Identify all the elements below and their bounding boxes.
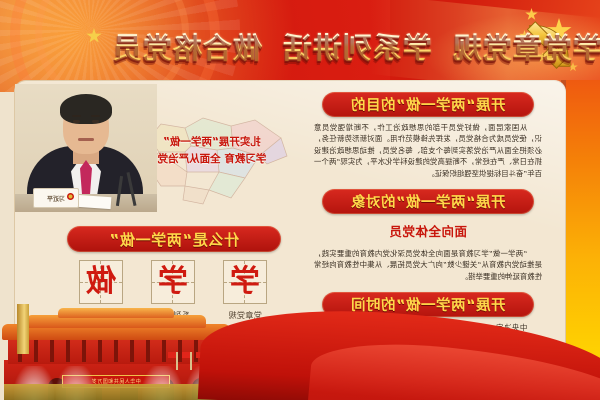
huabiao-column-icon [8, 304, 38, 354]
portrait-nameplate: 习近平 [33, 188, 79, 208]
portrait-eye-left [92, 120, 99, 123]
portrait-mouth [78, 138, 94, 141]
section-heading-purpose: 开展“两学一做”的目的 [322, 92, 534, 117]
glyph-char-1: 学 [230, 267, 260, 297]
spacer-1 [306, 179, 550, 189]
glyph-box-2: 学 [151, 260, 195, 304]
section-heading-audience: 开展“两学一做”的对象 [322, 189, 534, 214]
right-pill-title: 什么是“两学一做” [67, 226, 281, 252]
title-segment-2: 学系列讲话 [282, 25, 432, 67]
poster-title: 学党章党规 学系列讲话 做合格党员 [0, 24, 600, 68]
glyph-char-2: 学 [158, 267, 188, 297]
top-banner: 学党章党规 学系列讲话 做合格党员 [0, 0, 600, 92]
section-body-purpose: 从国家层面，做好党员干部的思想政治工作，不断增强党员意识，使党员成为合格党员，发… [306, 117, 550, 179]
leader-portrait: 习近平 [15, 84, 157, 212]
section-subheading-audience: 面向全体党员 [306, 221, 550, 240]
portrait-brow-right [72, 115, 81, 117]
portrait-eye-right [73, 120, 80, 123]
bottom-artwork: 中华人民共和国万岁 [0, 304, 600, 400]
right-headline-line-2: 学习教育 全面从严治党 [137, 151, 287, 168]
spacer-2 [306, 282, 550, 292]
title-segment-3: 做合格党员 [112, 25, 262, 67]
right-headline: 扎实开展“两学一做” 学习教育 全面从严治党 [137, 134, 287, 168]
glyph-box-1: 学 [223, 260, 267, 304]
title-segment-1: 学党章党规 [452, 25, 600, 67]
right-headline-line-1: 扎实开展“两学一做” [137, 134, 287, 151]
portrait-hair [60, 94, 112, 124]
glyph-box-3: 做 [79, 260, 123, 304]
poster-root: 学党章党规 学系列讲话 做合格党员 开展“两学一做”的目的 从国家层面，做好党员… [0, 0, 600, 400]
portrait-brow-left [91, 115, 100, 117]
speech-papers [77, 195, 112, 209]
huabiao-shaft [17, 304, 29, 354]
glyph-char-3: 做 [86, 267, 116, 297]
portrait-name: 习近平 [47, 194, 65, 203]
gate-roof-upper [58, 308, 174, 318]
section-body-audience: “两学一做”学习教育是面向全体党员深化党内教育的重要实践，是推动党内教育从“关键… [306, 243, 550, 282]
